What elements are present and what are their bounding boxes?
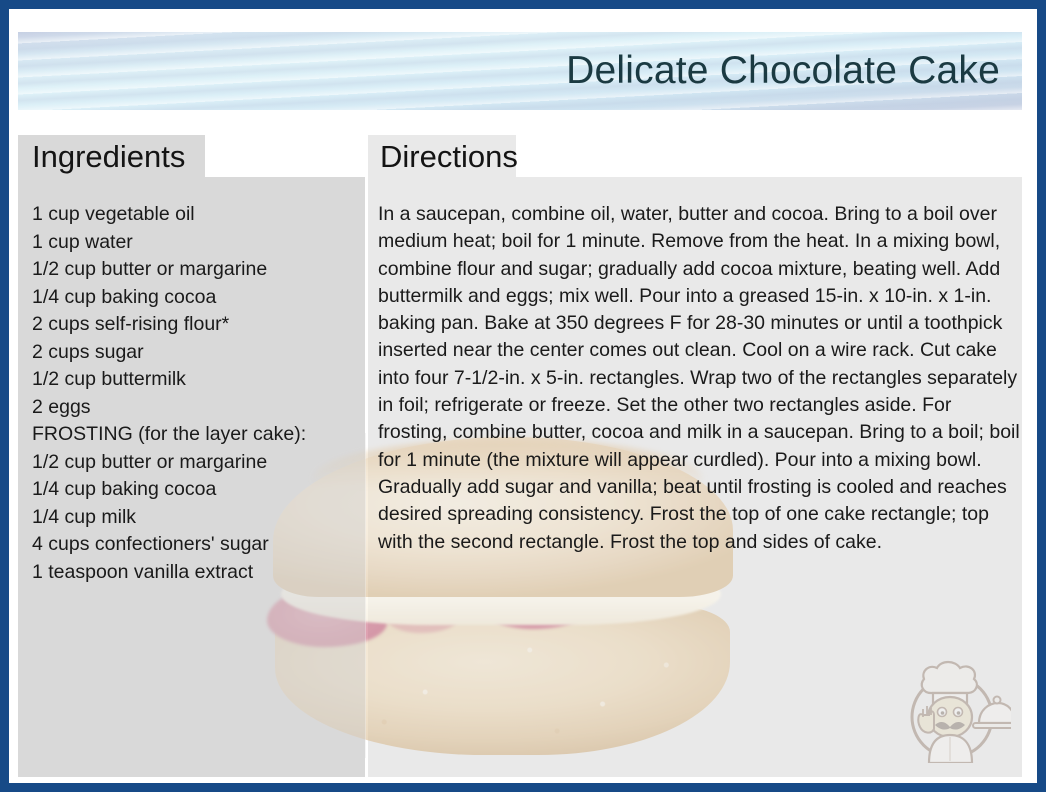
list-item: 4 cups confectioners' sugar — [32, 531, 362, 559]
list-item: 1/2 cup butter or margarine — [32, 449, 362, 477]
list-item: 1/2 cup butter or margarine — [32, 256, 362, 284]
directions-text: In a saucepan, combine oil, water, butte… — [378, 201, 1026, 556]
serving-cloche-icon — [973, 697, 1011, 729]
list-item: 1/4 cup milk — [32, 504, 362, 532]
list-item: 2 eggs — [32, 394, 362, 422]
page-title: Delicate Chocolate Cake — [566, 49, 1000, 93]
chef-mascot-logo — [893, 651, 1011, 763]
list-item: 1 teaspoon vanilla extract — [32, 559, 362, 587]
list-item: 1/4 cup baking cocoa — [32, 284, 362, 312]
ingredients-list: 1 cup vegetable oil 1 cup water 1/2 cup … — [32, 201, 362, 586]
ingredients-heading-tab: Ingredients — [18, 135, 205, 179]
list-item: 1 cup vegetable oil — [32, 201, 362, 229]
recipe-card: Delicate Chocolate Cake Ingredients Dire… — [0, 0, 1046, 792]
directions-heading-tab: Directions — [368, 135, 516, 179]
list-item: 1/4 cup baking cocoa — [32, 476, 362, 504]
ingredients-heading: Ingredients — [32, 140, 185, 174]
list-item: FROSTING (for the layer cake): — [32, 421, 362, 449]
chef-waving-hand-icon — [918, 706, 934, 733]
list-item: 1/2 cup buttermilk — [32, 366, 362, 394]
list-item: 2 cups self-rising flour* — [32, 311, 362, 339]
directions-heading: Directions — [380, 140, 518, 174]
title-banner: Delicate Chocolate Cake — [18, 32, 1022, 110]
list-item: 2 cups sugar — [32, 339, 362, 367]
list-item: 1 cup water — [32, 229, 362, 257]
chef-body — [929, 735, 972, 763]
